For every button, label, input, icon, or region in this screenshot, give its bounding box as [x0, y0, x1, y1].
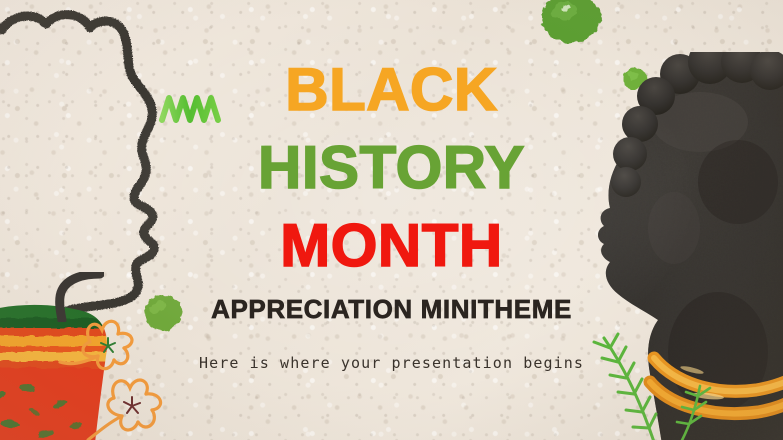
presentation-slide: BLACK HISTORY MONTH APPRECIATION MINITHE… [0, 0, 783, 440]
green-squiggle-icon [156, 86, 232, 134]
green-watercolor-dot-large-icon [538, 0, 604, 52]
fern-leaves-icon [592, 330, 722, 440]
green-watercolor-dot-left-icon [140, 290, 186, 336]
